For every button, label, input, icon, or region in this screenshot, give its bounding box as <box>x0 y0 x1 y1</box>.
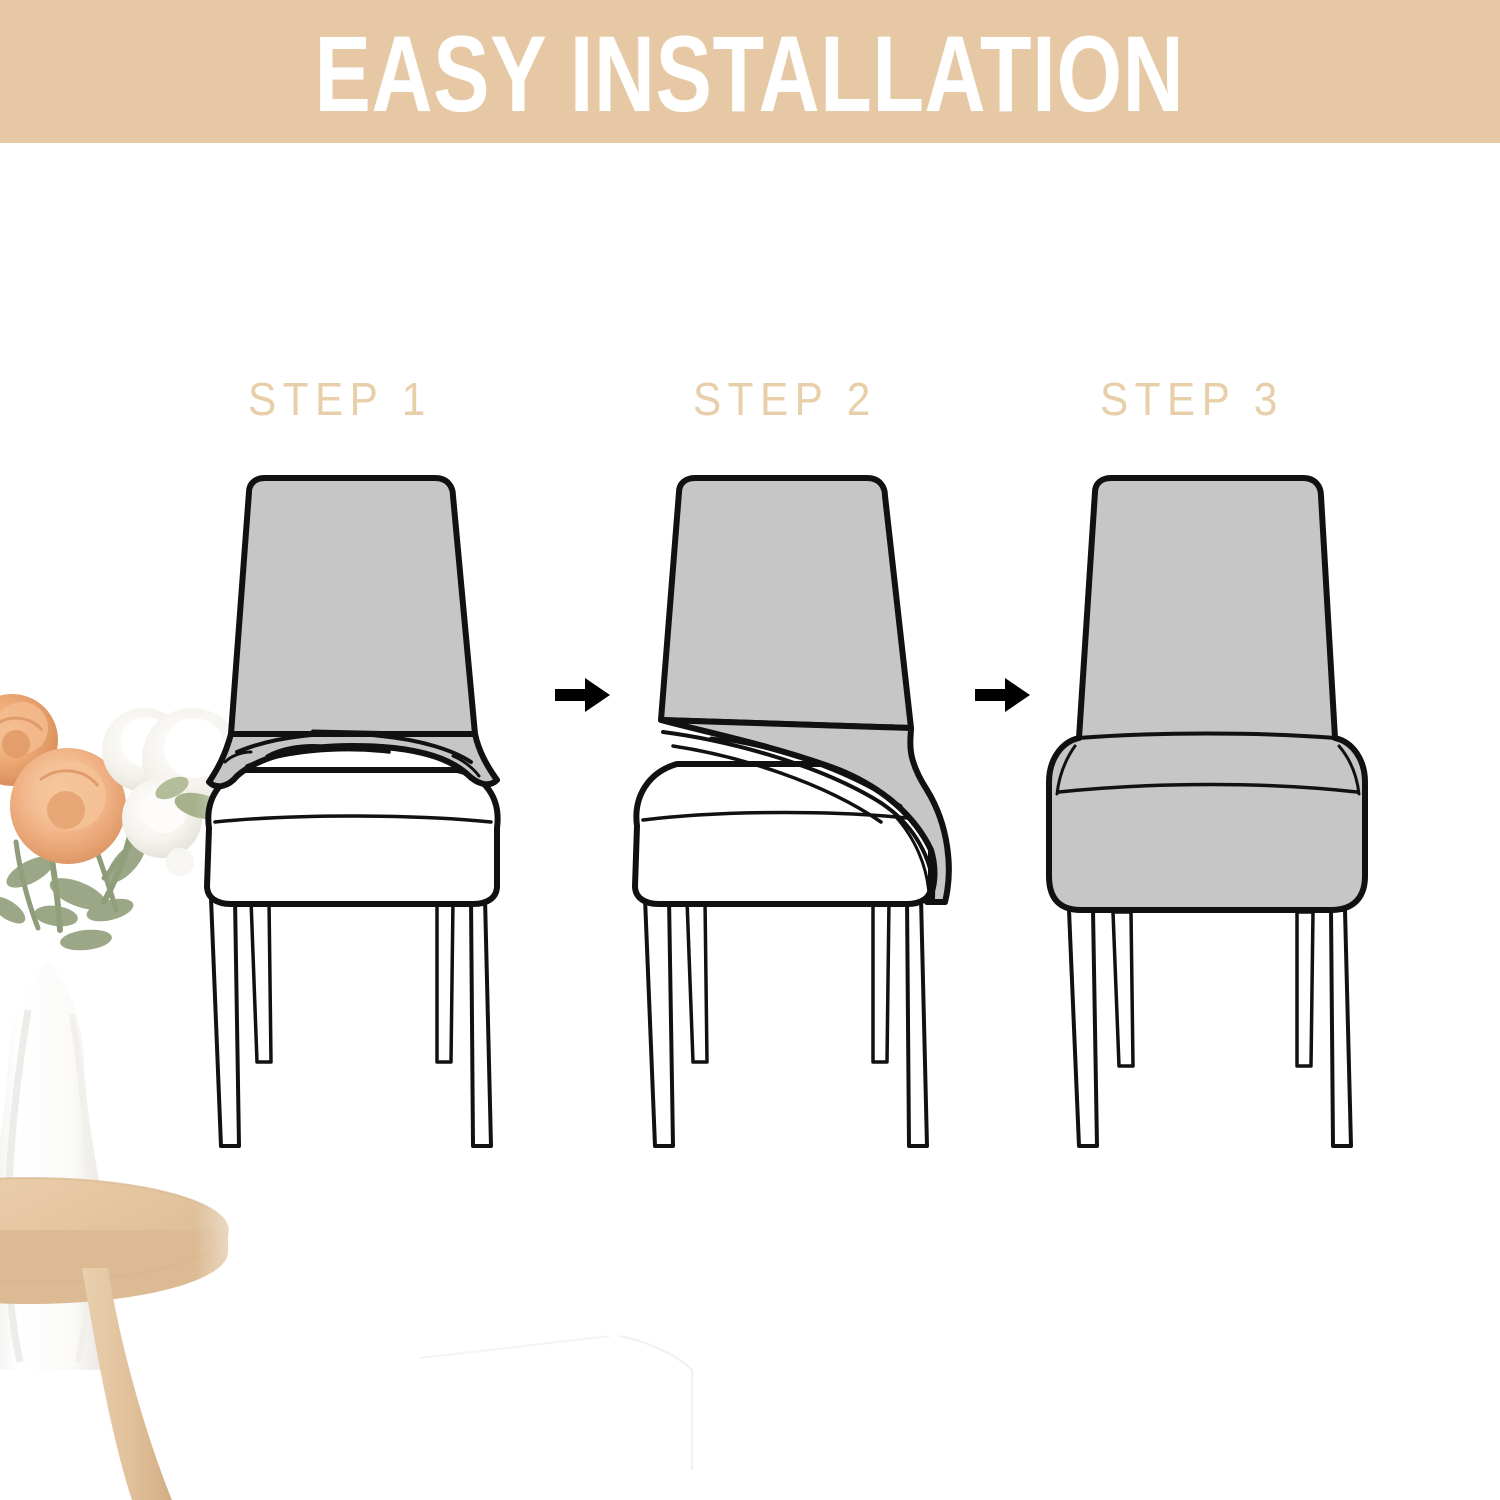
screenshot-root: EASY INSTALLATION <box>0 0 1500 1500</box>
header-banner: EASY INSTALLATION <box>0 0 1500 143</box>
chair-back-legs <box>1113 912 1313 1066</box>
arrow-step1-to-step2-icon <box>553 673 613 717</box>
chair-illustration-step-3 <box>1035 470 1395 1170</box>
chair-back-legs <box>687 900 889 1062</box>
chair-illustration-step-2 <box>615 470 975 1170</box>
page-title: EASY INSTALLATION <box>315 20 1185 128</box>
chair-back-cover <box>231 478 475 734</box>
background-artifact <box>420 1330 760 1500</box>
chair-full-cover <box>1049 478 1365 910</box>
chair-illustration-step-1 <box>185 470 545 1170</box>
chair-back-legs <box>251 900 453 1062</box>
seat-cushion <box>207 770 498 904</box>
step-label-1: STEP 1 <box>248 372 432 426</box>
chair-back-cover <box>661 478 911 728</box>
arrow-step2-to-step3-icon <box>973 673 1033 717</box>
step-label-3: STEP 3 <box>1100 372 1284 426</box>
step-label-2: STEP 2 <box>693 372 877 426</box>
